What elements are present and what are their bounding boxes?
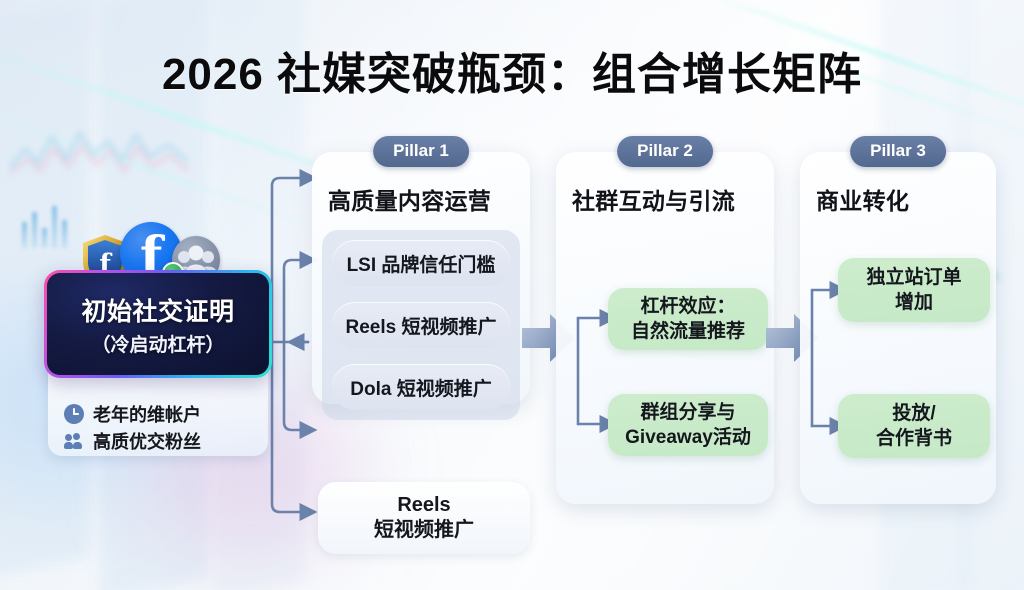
source-card-inner: 初始社交证明 （冷启动杠杆） bbox=[47, 273, 269, 375]
pillar-3-card-2-line: 合作背书 bbox=[876, 426, 952, 451]
pillar-1-item[interactable]: Reels 短视频推广 bbox=[332, 302, 510, 348]
pillar-3-card-1-line: 增加 bbox=[895, 290, 933, 315]
meta-row: 高质优交粉丝 bbox=[64, 427, 268, 454]
bg-bar bbox=[22, 222, 27, 248]
pillar-1-badge: Pillar 1 bbox=[373, 136, 469, 167]
pillar-2-card-2-line: 群组分享与 bbox=[640, 400, 735, 425]
source-card: 初始社交证明 （冷启动杠杆） bbox=[44, 270, 272, 378]
people-icon bbox=[64, 431, 84, 451]
pillar-3-card-1[interactable]: 独立站订单 增加 bbox=[838, 258, 990, 322]
pillar-1-extra-card[interactable]: Reels 短视频推广 bbox=[318, 482, 530, 554]
bg-bar bbox=[42, 228, 47, 248]
clock-icon bbox=[64, 404, 84, 424]
pillar-2-card-1-line: 杠杆效应： bbox=[640, 294, 735, 319]
pillar-1-item-group: LSI 品牌信任门槛 Reels 短视频推广 Dola 短视频推广 bbox=[322, 230, 520, 420]
pillar-3-card-2[interactable]: 投放/ 合作背书 bbox=[838, 394, 990, 458]
bg-bar bbox=[52, 206, 57, 248]
bg-bar bbox=[62, 220, 67, 248]
meta-row: 老年的维帐户 bbox=[64, 400, 268, 427]
pillar-2-card-1-line: 自然流量推荐 bbox=[631, 319, 745, 344]
pillar-2-card-2[interactable]: 群组分享与 Giveaway活动 bbox=[608, 394, 768, 456]
pillar-3-badge: Pillar 3 bbox=[850, 136, 946, 167]
pillar-2-card-2-line: Giveaway活动 bbox=[625, 425, 751, 450]
meta-label: 高质优交粉丝 bbox=[93, 428, 201, 454]
bg-bar bbox=[32, 212, 37, 248]
pillar-1-extra-line: Reels bbox=[397, 493, 450, 518]
pillar-1-item[interactable]: Dola 短视频推广 bbox=[332, 364, 510, 410]
pillar-1-extra-line: 短视频推广 bbox=[374, 518, 474, 543]
pillar-1-column[interactable]: Pillar 1 高质量内容运营 LSI 品牌信任门槛 Reels 短视频推广 … bbox=[312, 152, 530, 404]
pillar-2-card-1[interactable]: 杠杆效应： 自然流量推荐 bbox=[608, 288, 768, 350]
pillar-3-card-2-line: 投放/ bbox=[892, 401, 935, 426]
pillar-2-badge: Pillar 2 bbox=[617, 136, 713, 167]
pillar-1-item[interactable]: LSI 品牌信任门槛 bbox=[332, 240, 510, 286]
meta-label: 老年的维帐户 bbox=[93, 401, 201, 427]
source-subtitle: （冷启动杠杆） bbox=[91, 330, 224, 357]
pillar-3-card-1-line: 独立站订单 bbox=[866, 265, 961, 290]
source-title: 初始社交证明 bbox=[81, 292, 234, 328]
page-title: 2026 社媒突破瓶颈：组合增长矩阵 bbox=[0, 38, 1024, 102]
